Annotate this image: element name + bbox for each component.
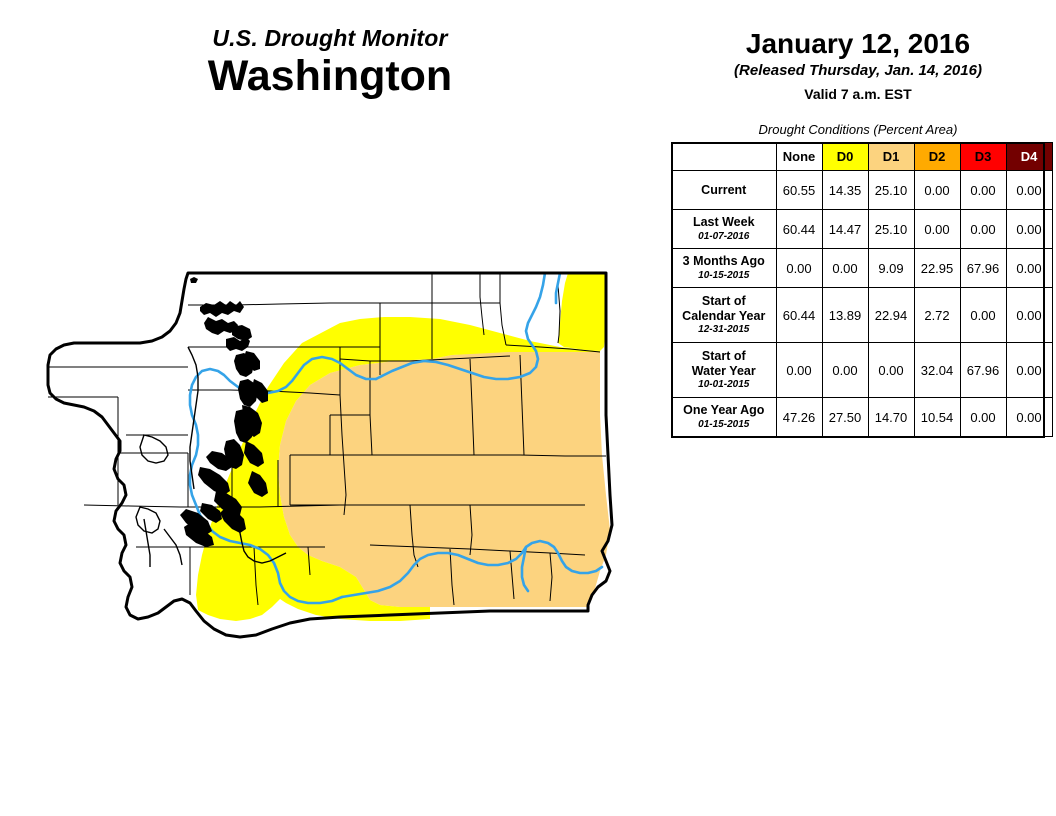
valid-time: Valid 7 a.m. EST <box>660 85 1056 104</box>
cell-d1: 22.94 <box>868 288 914 343</box>
row-label-date: 12-31-2015 <box>675 324 773 336</box>
row-label-date: 10-01-2015 <box>675 379 773 391</box>
table-row: Start ofCalendar Year12-31-201560.4413.8… <box>672 288 1053 343</box>
cell-d1: 25.10 <box>868 171 914 210</box>
cell-d4: 0.00 <box>1006 210 1052 249</box>
cell-d2: 0.00 <box>914 210 960 249</box>
column-header-d2: D2 <box>914 143 960 171</box>
table-header: None D0 D1 D2 D3 D4 <box>672 143 1053 171</box>
row-label-date: 01-07-2016 <box>675 231 773 243</box>
cell-d1: 25.10 <box>868 210 914 249</box>
cell-d0: 0.00 <box>822 249 868 288</box>
cell-d3: 0.00 <box>960 288 1006 343</box>
cell-none: 60.55 <box>776 171 822 210</box>
row-label-date: 01-15-2015 <box>675 419 773 431</box>
report-date: January 12, 2016 <box>660 28 1056 59</box>
cell-d2: 10.54 <box>914 398 960 437</box>
cell-d2: 2.72 <box>914 288 960 343</box>
cell-none: 60.44 <box>776 210 822 249</box>
washington-drought-map[interactable] <box>40 255 655 665</box>
cell-d1: 14.70 <box>868 398 914 437</box>
cell-d2: 22.95 <box>914 249 960 288</box>
date-block: January 12, 2016 (Released Thursday, Jan… <box>660 28 1056 104</box>
table-row: Current60.5514.3525.100.000.000.00 <box>672 171 1053 210</box>
row-label: Start ofWater Year10-01-2015 <box>672 343 777 398</box>
row-label: One Year Ago01-15-2015 <box>672 398 777 437</box>
cell-d0: 27.50 <box>822 398 868 437</box>
row-label: 3 Months Ago10-15-2015 <box>672 249 777 288</box>
cell-none: 60.44 <box>776 288 822 343</box>
cell-d3: 0.00 <box>960 171 1006 210</box>
cell-none: 0.00 <box>776 343 822 398</box>
cell-d4: 0.00 <box>1006 398 1052 437</box>
cell-d3: 67.96 <box>960 343 1006 398</box>
cell-d4: 0.00 <box>1006 288 1052 343</box>
d0-abnormally-dry-area-northeast <box>558 273 606 351</box>
row-label: Last Week01-07-2016 <box>672 210 777 249</box>
cell-none: 0.00 <box>776 249 822 288</box>
map-panel: U.S. Drought Monitor Washington <box>0 0 660 816</box>
cell-d3: 0.00 <box>960 210 1006 249</box>
info-panel: January 12, 2016 (Released Thursday, Jan… <box>660 0 1056 816</box>
table-row: Start ofWater Year10-01-20150.000.000.00… <box>672 343 1053 398</box>
cell-d2: 0.00 <box>914 171 960 210</box>
cell-d1: 0.00 <box>868 343 914 398</box>
cell-d0: 13.89 <box>822 288 868 343</box>
column-header-d3: D3 <box>960 143 1006 171</box>
column-header-d1: D1 <box>868 143 914 171</box>
table-body: Current60.5514.3525.100.000.000.00Last W… <box>672 171 1053 437</box>
release-date: (Released Thursday, Jan. 14, 2016) <box>660 61 1056 81</box>
cell-d0: 14.35 <box>822 171 868 210</box>
cell-d4: 0.00 <box>1006 171 1052 210</box>
table-caption: Drought Conditions (Percent Area) <box>660 122 1056 137</box>
table-header-row: None D0 D1 D2 D3 D4 <box>672 143 1053 171</box>
cell-d0: 0.00 <box>822 343 868 398</box>
cell-d2: 32.04 <box>914 343 960 398</box>
program-title: U.S. Drought Monitor <box>0 26 660 50</box>
table-row: One Year Ago01-15-201547.2627.5014.7010.… <box>672 398 1053 437</box>
column-header-none: None <box>776 143 822 171</box>
cell-d3: 0.00 <box>960 398 1006 437</box>
table-row: Last Week01-07-201660.4414.4725.100.000.… <box>672 210 1053 249</box>
cell-d3: 67.96 <box>960 249 1006 288</box>
row-label: Start ofCalendar Year12-31-2015 <box>672 288 777 343</box>
column-header-d0: D0 <box>822 143 868 171</box>
cell-d4: 0.00 <box>1006 343 1052 398</box>
drought-conditions-table: None D0 D1 D2 D3 D4 Current60.5514.3525.… <box>671 142 1053 437</box>
row-label: Current <box>672 171 777 210</box>
column-header-d4: D4 <box>1006 143 1052 171</box>
table-row: 3 Months Ago10-15-20150.000.009.0922.956… <box>672 249 1053 288</box>
table-corner-cell <box>672 143 777 171</box>
cell-d0: 14.47 <box>822 210 868 249</box>
title-block: U.S. Drought Monitor Washington <box>0 26 660 100</box>
cell-d1: 9.09 <box>868 249 914 288</box>
cell-d4: 0.00 <box>1006 249 1052 288</box>
page-title: Washington <box>0 53 660 99</box>
row-label-date: 10-15-2015 <box>675 270 773 282</box>
cell-none: 47.26 <box>776 398 822 437</box>
map-svg <box>40 255 655 665</box>
